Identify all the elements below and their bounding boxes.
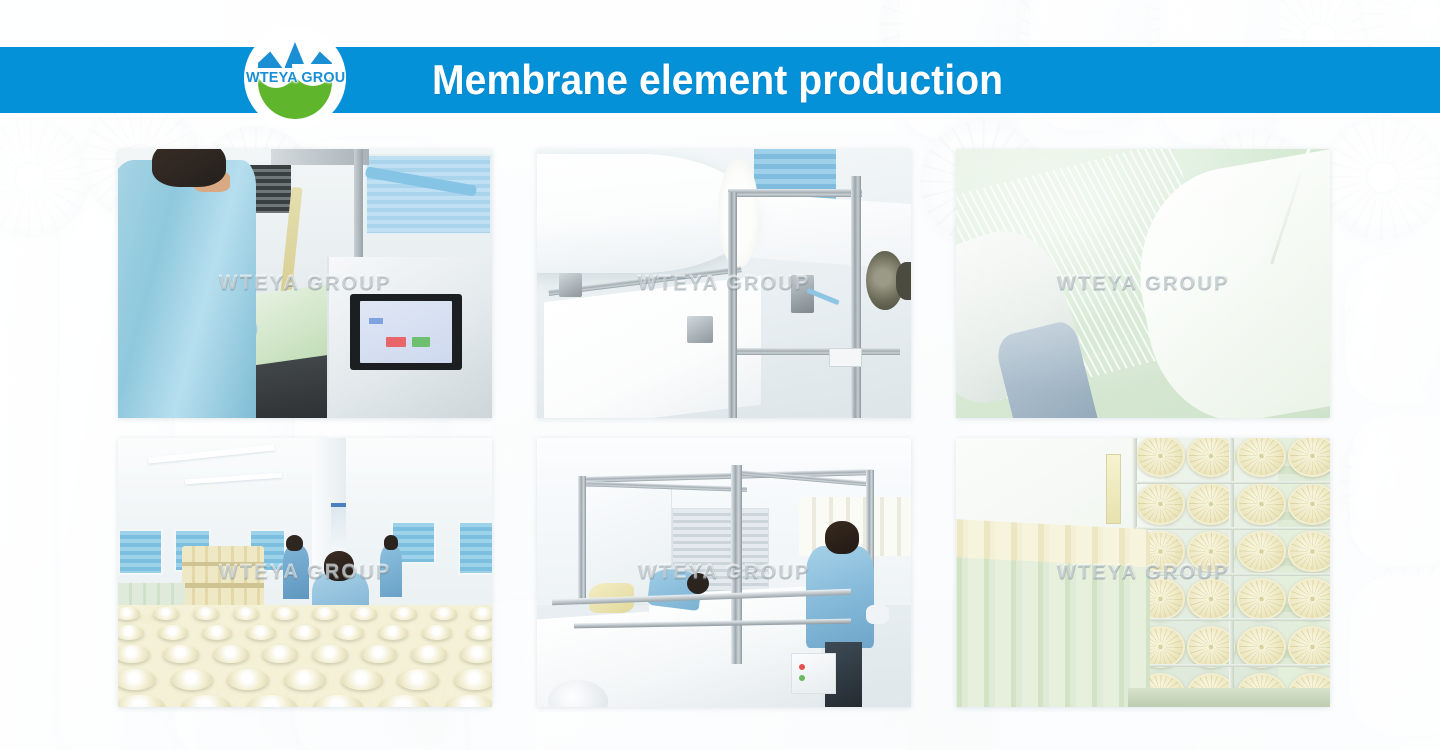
photo6-rack-bar <box>1136 573 1330 576</box>
gallery-item-photo-2[interactable]: WTEYA GROUP <box>537 149 911 418</box>
photo4-element-row <box>118 695 492 707</box>
photo6-element-endcap <box>1136 438 1185 477</box>
photo5-indicator-red <box>799 664 805 670</box>
photo-operator-winding-machine <box>118 149 492 418</box>
photo5-gantry-post <box>578 476 586 600</box>
gallery-item-photo-4[interactable]: WTEYA GROUP <box>118 438 492 707</box>
photo6-element-endcap <box>1288 531 1330 573</box>
photo5-worker-right-body <box>806 546 873 648</box>
photo6-element-endcap <box>1288 483 1330 525</box>
photo5-gantry-center-post <box>731 465 741 664</box>
photo2-frame-top <box>728 189 863 197</box>
photo2-material-roll <box>537 154 754 272</box>
photo4-element-rack <box>182 546 264 611</box>
photo2-control-box <box>829 348 863 367</box>
photo6-element-endcap <box>1237 626 1286 668</box>
gallery-item-photo-1[interactable]: WTEYA GROUP <box>118 149 492 418</box>
photo1-touchscreen-frame <box>350 294 462 369</box>
photo4-element-row <box>118 625 492 640</box>
page-title: Membrane element production <box>432 47 1003 113</box>
photo1-worker-labcoat <box>118 160 256 418</box>
gallery-item-photo-3[interactable]: WTEYA GROUP <box>956 149 1330 418</box>
photo5-indicator-green <box>799 675 805 681</box>
photo4-window <box>458 521 492 575</box>
photo4-rack-shelf <box>182 583 264 587</box>
photo2-clamp-left <box>559 273 581 297</box>
photo4-background-worker <box>380 546 402 597</box>
photo-membrane-sheet-roll <box>537 149 911 418</box>
photo6-element-endcap <box>1237 531 1286 573</box>
photo6-element-endcap <box>1237 438 1286 477</box>
photo4-rack-shelf <box>182 562 264 566</box>
photo1-screen-field <box>369 318 383 324</box>
photo6-element-endcap <box>1237 578 1286 620</box>
photo4-element-row <box>118 607 492 620</box>
photo6-floor <box>1128 688 1330 707</box>
photo2-roll-shaft <box>896 262 911 300</box>
photo6-element-endcap <box>1237 483 1286 525</box>
photo6-element-endcap <box>1136 483 1185 525</box>
photo1-worker-head <box>152 149 227 187</box>
header-banner: Membrane element production <box>0 47 1440 113</box>
photo4-inspector-hair <box>324 551 354 581</box>
photo4-background-worker-head <box>384 535 399 550</box>
photo2-frame-post-left <box>728 192 738 418</box>
company-logo: WTEYA GROUP <box>244 27 346 129</box>
photo1-screen-red-button <box>386 337 406 347</box>
photo2-roll-face <box>718 159 759 268</box>
photo6-element-endcap <box>1288 578 1330 620</box>
photo6-element-endcap <box>1288 626 1330 668</box>
photo-gallery-grid: WTEYA GROUP WTEYA GROUP <box>118 149 1330 707</box>
photo4-wall-banner <box>331 503 346 557</box>
logo-text: WTEYA GROUP <box>246 69 344 86</box>
photo6-element-endcap <box>1288 438 1330 477</box>
photo6-rack-bar <box>1136 527 1330 530</box>
photo-cleanroom-inspection <box>118 438 492 707</box>
photo-leaf-laying-machine <box>537 438 911 707</box>
photo4-element-row <box>118 669 492 690</box>
photo6-rack-bar <box>1136 618 1330 621</box>
photo-finished-elements-stack <box>956 438 1330 707</box>
photo4-background-worker-head <box>286 535 303 551</box>
photo2-clamp-right <box>687 316 713 343</box>
photo6-rack-bar <box>1136 481 1330 484</box>
gallery-item-photo-6[interactable]: WTEYA GROUP <box>956 438 1330 707</box>
photo5-worker-left-head <box>687 573 709 595</box>
photo2-frame-post-right <box>851 176 861 418</box>
photo4-element-row <box>118 645 492 663</box>
photo-fiberglass-wrap-closeup <box>956 149 1330 418</box>
photo2-frame-bottom <box>728 348 900 355</box>
photo6-rack-bar <box>1136 664 1330 667</box>
photo1-screen-green-button <box>412 337 430 347</box>
photo4-window <box>118 529 163 575</box>
photo6-light-fixture <box>1106 454 1121 524</box>
gallery-item-photo-5[interactable]: WTEYA GROUP <box>537 438 911 707</box>
photo5-worker-right-head <box>825 521 859 553</box>
photo3-highlight <box>956 149 1330 418</box>
photo4-ceiling <box>118 438 492 519</box>
photo4-element-field <box>118 605 492 707</box>
photo4-background-worker <box>283 546 309 600</box>
photo1-touchscreen-display <box>360 301 452 363</box>
photo5-control-box <box>791 653 836 693</box>
photo5-worker-glove <box>866 605 888 624</box>
